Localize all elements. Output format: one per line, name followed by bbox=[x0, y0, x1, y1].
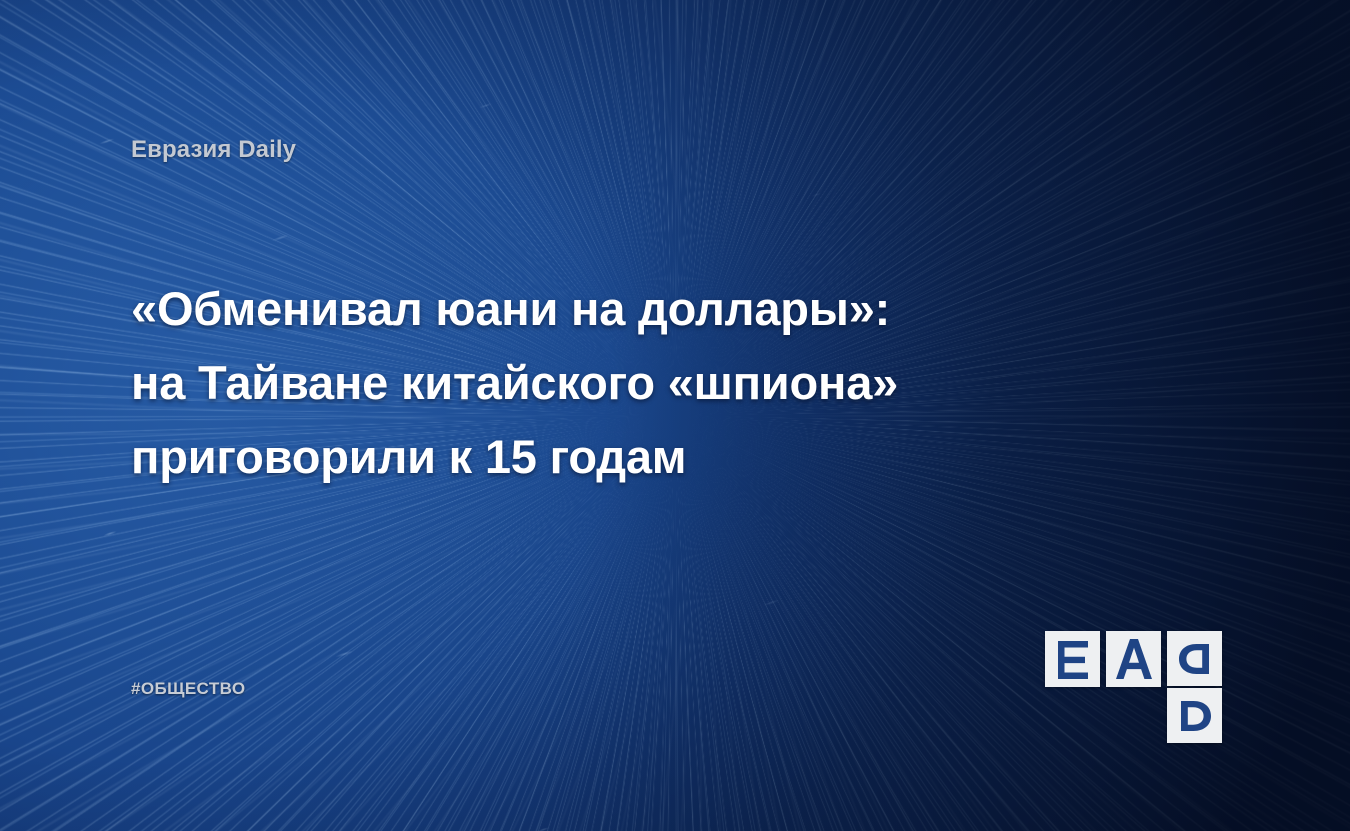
letter-a-icon bbox=[1116, 639, 1152, 679]
letter-e-icon bbox=[1056, 639, 1090, 679]
logo-tile-d-stack bbox=[1167, 631, 1222, 743]
logo-tile-e bbox=[1045, 631, 1100, 687]
brand-name: Евразия Daily bbox=[131, 136, 296, 164]
card-content: Евразия Daily «Обменивал юани на доллары… bbox=[0, 0, 1350, 831]
page-title: «Обменивал юани на доллары»: на Тайване … bbox=[131, 272, 1071, 494]
headline-line-1: «Обменивал юани на доллары»: bbox=[131, 272, 1071, 346]
news-card: Евразия Daily «Обменивал юани на доллары… bbox=[0, 0, 1350, 831]
eadaily-logo[interactable] bbox=[1045, 631, 1222, 743]
logo-tile-d-mirrored bbox=[1167, 631, 1222, 686]
letter-d-icon bbox=[1179, 699, 1211, 733]
headline-line-3: приговорили к 15 годам bbox=[131, 420, 1071, 494]
headline-line-2: на Тайване китайского «шпиона» bbox=[131, 346, 1071, 420]
logo-tile-a bbox=[1106, 631, 1161, 687]
category-hashtag[interactable]: #ОБЩЕСТВО bbox=[131, 679, 245, 699]
letter-d-mirrored-icon bbox=[1179, 642, 1211, 676]
logo-tile-d bbox=[1167, 688, 1222, 743]
